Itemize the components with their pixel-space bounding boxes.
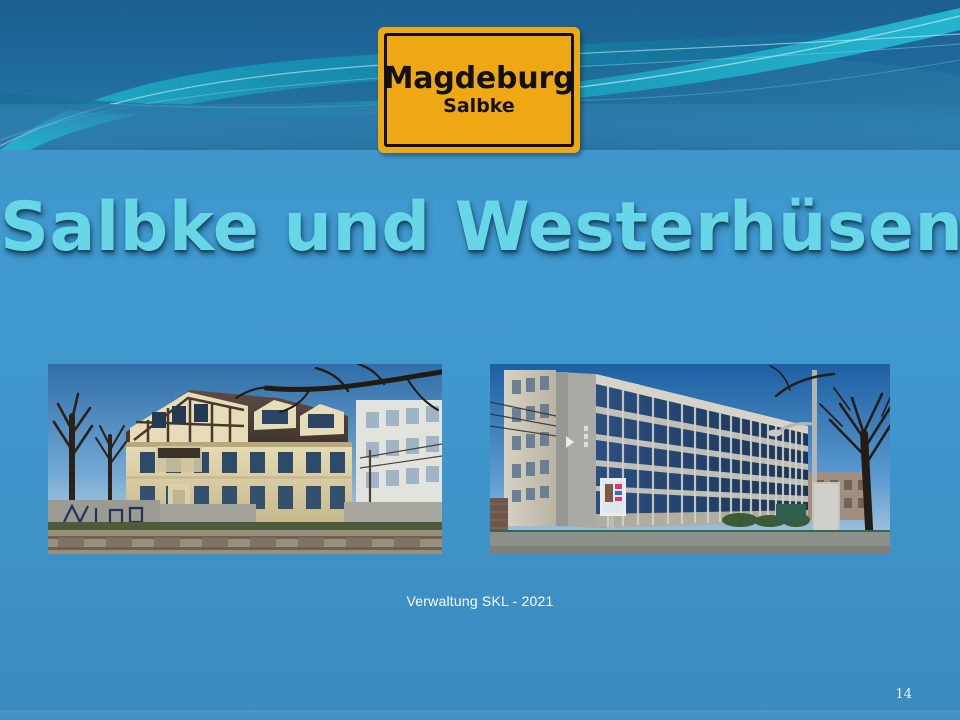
bottom-accent-strip (0, 710, 960, 720)
page-number: 14 (895, 687, 912, 702)
presentation-slide: Magdeburg Salbke Salbke und Westerhüsen (0, 0, 960, 720)
photo-left (48, 364, 442, 554)
place-name-sign-inner: Magdeburg Salbke (384, 33, 574, 147)
photo-left-image (48, 364, 442, 554)
slide-title: Salbke und Westerhüsen (0, 188, 960, 267)
photo-right-image (490, 364, 890, 554)
photo-right (490, 364, 890, 554)
sign-district-label: Salbke (443, 96, 515, 117)
place-name-sign: Magdeburg Salbke (378, 27, 580, 153)
sign-city-label: Magdeburg (384, 63, 575, 95)
footer-note: Verwaltung SKL - 2021 (0, 593, 960, 609)
